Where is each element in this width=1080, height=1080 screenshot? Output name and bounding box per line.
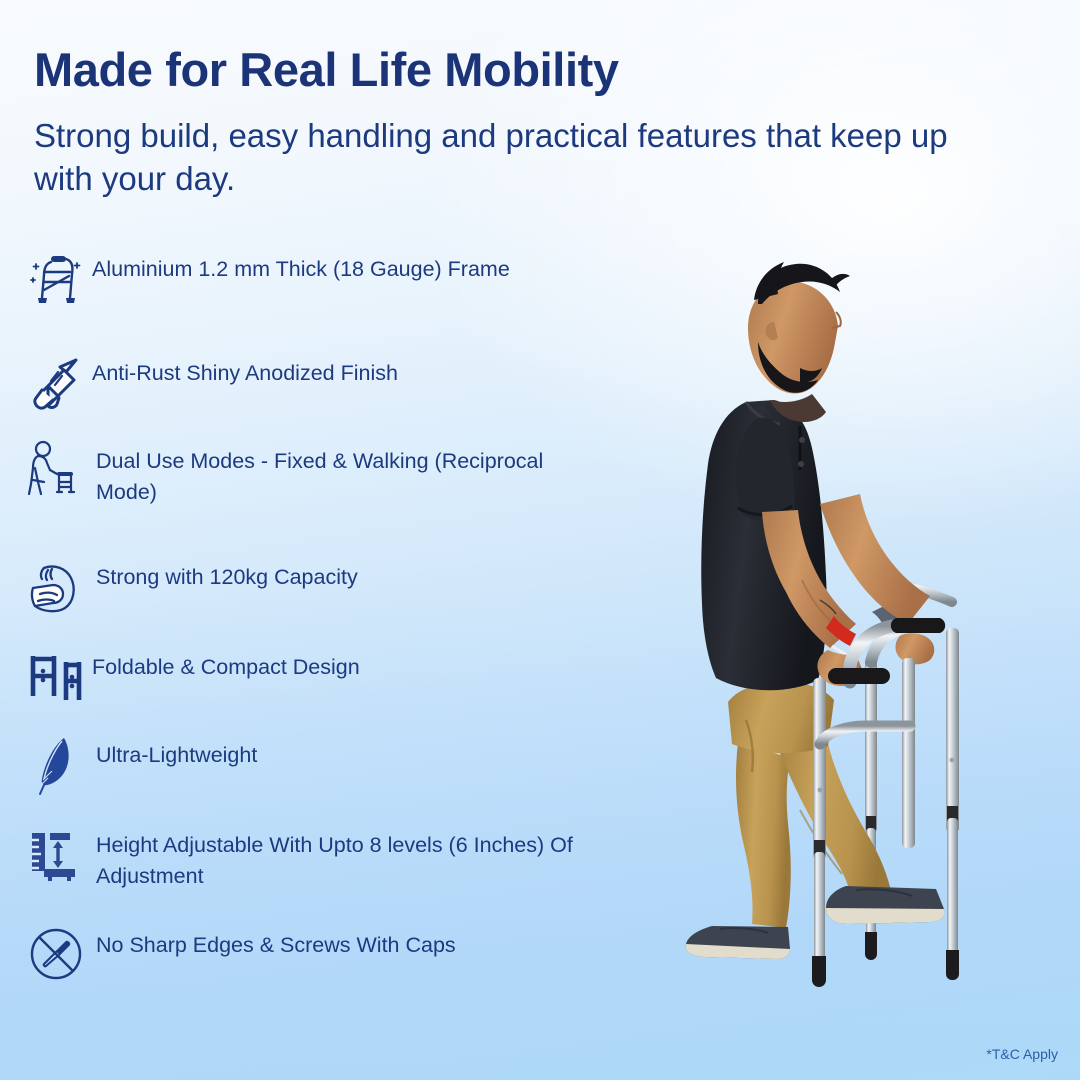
person-with-walker-icon [24,438,88,502]
feature-label: Dual Use Modes - Fixed & Walking (Recipr… [88,438,584,508]
feature-item-height-adjustable: Height Adjustable With Upto 8 levels (6 … [24,822,584,922]
feature-item-aluminium-frame: Aluminium 1.2 mm Thick (18 Gauge) Frame [24,246,584,350]
shoe-front [826,886,945,924]
folding-frame-icon [24,644,88,708]
feature-item-no-sharp-edges: No Sharp Edges & Screws With Caps [24,922,584,992]
feature-item-anodized-finish: Anti-Rust Shiny Anodized Finish [24,350,584,438]
feature-item-lightweight: Ultra-Lightweight [24,732,584,822]
grip-near [828,668,890,684]
feature-label: Strong with 120kg Capacity [88,554,358,593]
grip-far [891,618,945,633]
shoe-back [686,926,790,959]
header-block: Made for Real Life Mobility Strong build… [34,44,1014,200]
paint-brush-icon [24,350,88,414]
promo-poster: Made for Real Life Mobility Strong build… [0,0,1080,1080]
man-walking-with-aluminium-walker-photo [650,250,1080,1080]
page-title: Made for Real Life Mobility [34,44,1014,97]
hand-right [896,633,935,664]
feather-icon [24,732,88,796]
feature-item-foldable-design: Foldable & Compact Design [24,644,584,732]
feature-label: Height Adjustable With Upto 8 levels (6 … [88,822,584,892]
feature-item-dual-use-modes: Dual Use Modes - Fixed & Walking (Recipr… [24,438,584,554]
feature-label: No Sharp Edges & Screws With Caps [88,922,456,961]
feature-label: Anti-Rust Shiny Anodized Finish [88,350,398,389]
feature-label: Ultra-Lightweight [88,732,257,771]
head [748,262,850,393]
page-subtitle: Strong build, easy handling and practica… [34,115,994,201]
feature-list: Aluminium 1.2 mm Thick (18 Gauge) Frame … [24,246,584,992]
terms-note: *T&C Apply [986,1046,1058,1062]
feature-label: Foldable & Compact Design [88,644,360,683]
feature-item-weight-capacity: Strong with 120kg Capacity [24,554,584,644]
no-sharp-knife-icon [24,922,88,986]
feature-label: Aluminium 1.2 mm Thick (18 Gauge) Frame [88,246,510,285]
height-ruler-arrow-icon [24,822,88,886]
flexed-bicep-icon [24,554,88,618]
walker-sparkle-icon [24,246,88,310]
